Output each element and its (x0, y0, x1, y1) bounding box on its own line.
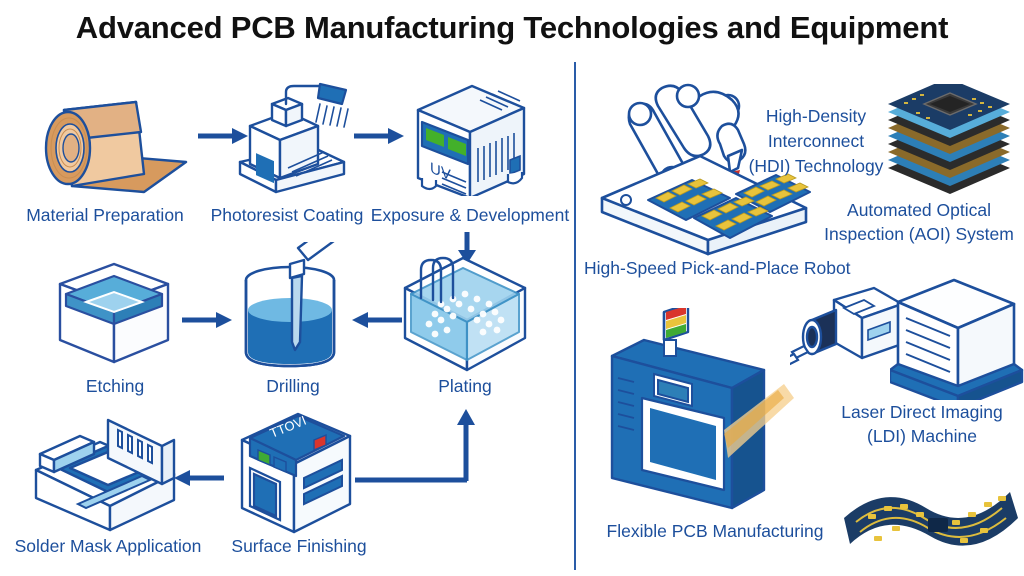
etching-tank-icon (52, 262, 177, 374)
hdi-line-1: High-Density (742, 104, 890, 129)
flexible-pcb-board-icon (840, 474, 1024, 576)
label-solder-mask-application: Solder Mask Application (8, 536, 208, 557)
label-material-preparation: Material Preparation (10, 205, 200, 226)
label-etching: Etching (52, 376, 178, 397)
ldi-line-2: (LDI) Machine (822, 424, 1022, 448)
label-surface-finishing: Surface Finishing (214, 536, 384, 557)
diagram-canvas: Advanced PCB Manufacturing Technologies … (0, 0, 1024, 576)
coating-machine-icon (222, 82, 362, 197)
flow-arrow-right-3 (182, 310, 234, 330)
hdi-stack-icon (876, 84, 1022, 196)
ldi-cabinet-icon (890, 276, 1024, 400)
ldi-line-1: Laser Direct Imaging (822, 400, 1022, 424)
plating-tank-icon (397, 242, 533, 374)
label-drilling: Drilling (230, 376, 356, 397)
label-ldi-machine: Laser Direct Imaging (LDI) Machine (822, 400, 1022, 448)
flow-arrow-left-2 (172, 468, 224, 488)
flow-arrow-left-1 (350, 310, 402, 330)
label-hdi-technology: High-Density Interconnect (HDI) Technolo… (742, 104, 890, 179)
surface-finishing-machine-icon: TTOVI (228, 412, 362, 534)
drill-beaker-icon (232, 242, 354, 374)
vertical-divider (574, 62, 576, 570)
hdi-line-3: (HDI) Technology (742, 154, 890, 179)
label-photoresist-coating: Photoresist Coating (198, 205, 376, 226)
label-aoi-system: Automated Optical Inspection (AOI) Syste… (816, 198, 1022, 246)
label-pick-and-place-robot: High-Speed Pick-and-Place Robot (584, 258, 850, 279)
label-plating: Plating (400, 376, 530, 397)
label-exposure-development: Exposure & Development (370, 205, 570, 226)
hdi-line-2: Interconnect (742, 129, 890, 154)
aoi-line-1: Automated Optical (816, 198, 1022, 222)
copper-roll-icon (26, 82, 206, 197)
flow-arrow-up-1 (455, 405, 477, 481)
flow-connector-horizontal (355, 473, 470, 487)
aoi-line-2: Inspection (AOI) System (816, 222, 1022, 246)
page-title: Advanced PCB Manufacturing Technologies … (0, 10, 1024, 46)
uv-exposure-machine-icon: UV (398, 78, 538, 196)
flexible-pcb-machine-icon (598, 308, 808, 514)
label-flexible-pcb-manufacturing: Flexible PCB Manufacturing (598, 521, 832, 542)
